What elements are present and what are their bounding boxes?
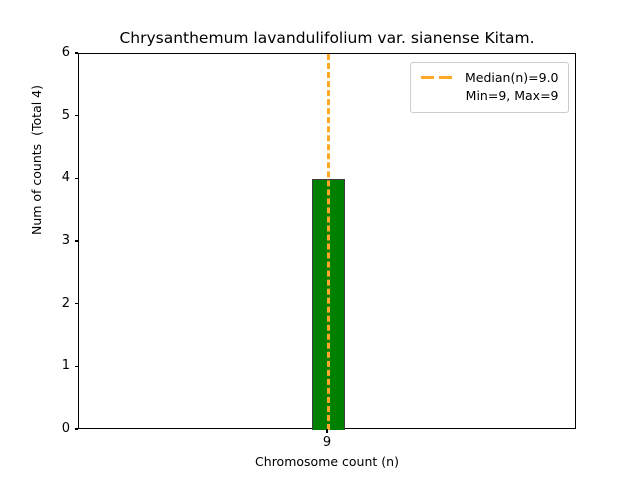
y-tick-label: 6 [62, 44, 70, 62]
legend-dashed-line-icon [420, 69, 456, 86]
chart-title: Chrysanthemum lavandulifolium var. siane… [78, 29, 576, 47]
y-tick-label: 4 [62, 169, 70, 187]
y-axis-label: Num of counts (Total 4) [29, 75, 45, 245]
legend-label-minmax: Min=9, Max=9 [465, 87, 559, 105]
y-tick-label: 3 [62, 232, 70, 250]
y-tick-mark [75, 178, 79, 179]
median-line [327, 54, 330, 430]
y-tick-label: 0 [62, 420, 70, 438]
y-tick-label: 2 [62, 295, 70, 313]
y-tick-mark [75, 366, 79, 367]
legend-label-median: Median(n)=9.0 [465, 69, 559, 87]
y-tick-mark [75, 52, 79, 53]
chart-figure: Chrysanthemum lavandulifolium var. siane… [0, 0, 640, 480]
y-tick-label: 1 [62, 357, 70, 375]
y-tick-mark [75, 115, 79, 116]
x-tick-label: 9 [297, 434, 357, 452]
chart-legend: Median(n)=9.0 Min=9, Max=9 [410, 62, 569, 113]
y-tick-mark [75, 428, 79, 429]
y-tick-mark [75, 303, 79, 304]
y-tick-mark [75, 240, 79, 241]
legend-entry-labels: Median(n)=9.0 Min=9, Max=9 [465, 69, 559, 105]
x-tick-mark [326, 429, 327, 433]
y-tick-label: 5 [62, 107, 70, 125]
x-axis-label: Chromosome count (n) [78, 453, 576, 470]
